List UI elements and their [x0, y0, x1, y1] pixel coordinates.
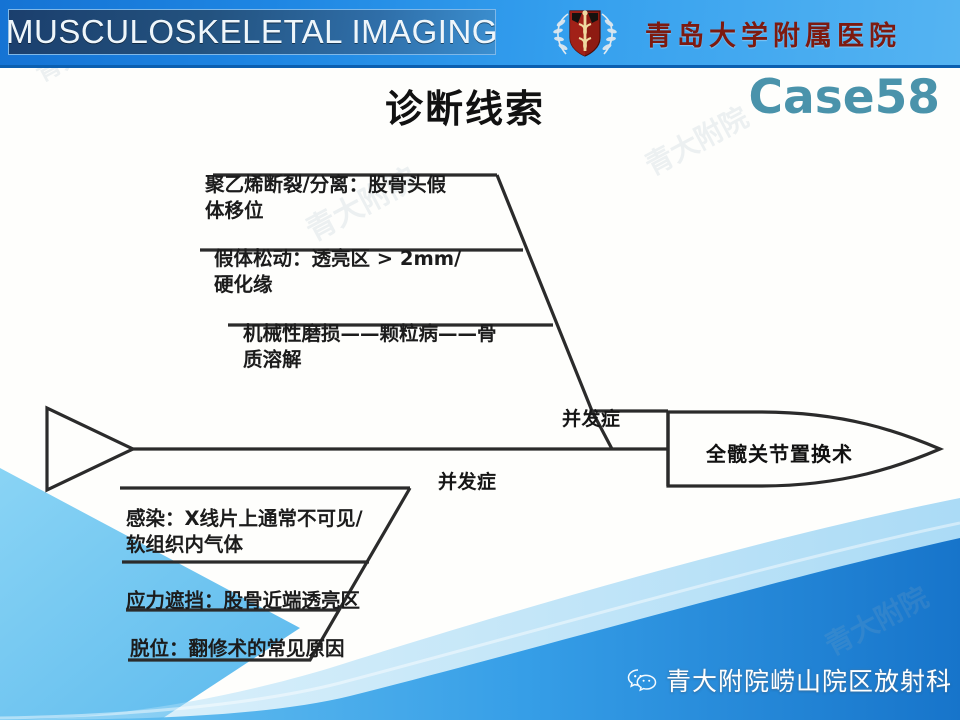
upper-branch-2-label: 假体松动：透亮区 > 2mm/ 硬化缘 — [214, 246, 524, 297]
musculoskeletal-imaging-logo-text: MUSCULOSKELETAL IMAGING — [6, 13, 498, 51]
wechat-icon — [627, 667, 657, 693]
footer-brand-text: 青大附院崂山院区放射科 — [666, 662, 952, 698]
upper-branch-3-label: 机械性磨损——颗粒病——骨 质溶解 — [243, 321, 563, 372]
lower-branch-2-label: 应力遮挡：股骨近端透亮区 — [126, 588, 386, 614]
hospital-name: 青岛大学附属医院 — [645, 14, 901, 53]
slide-header: MUSCULOSKELETAL IMAGING — [0, 0, 960, 68]
footer-brand: 青大附院崂山院区放射科 — [627, 662, 952, 698]
spine-label-upper-complications: 并发症 — [562, 404, 621, 431]
lower-branch-3-label: 脱位：翻修术的常见原因 — [130, 636, 380, 662]
hospital-crest-icon — [548, 6, 622, 62]
lower-branch-1-label: 感染：X线片上通常不可见/ 软组织内气体 — [126, 506, 436, 557]
slide-root: 青大附院 青大附院 青大附院 青大附院 MUSCULOSKELETAL IMAG… — [0, 0, 960, 720]
spine-label-lower-complications: 并发症 — [438, 467, 497, 494]
upper-branch-1-label: 聚乙烯断裂/分离：股骨头假 体移位 — [205, 172, 505, 223]
fishbone-head-label: 全髋关节置换术 — [706, 438, 853, 467]
page-title: 诊断线索 — [385, 78, 545, 133]
musculoskeletal-imaging-logo: MUSCULOSKELETAL IMAGING — [8, 9, 496, 55]
case-number: Case58 — [749, 70, 940, 125]
fishbone-diagram: 聚乙烯断裂/分离：股骨头假 体移位 假体松动：透亮区 > 2mm/ 硬化缘 机械… — [0, 140, 960, 680]
